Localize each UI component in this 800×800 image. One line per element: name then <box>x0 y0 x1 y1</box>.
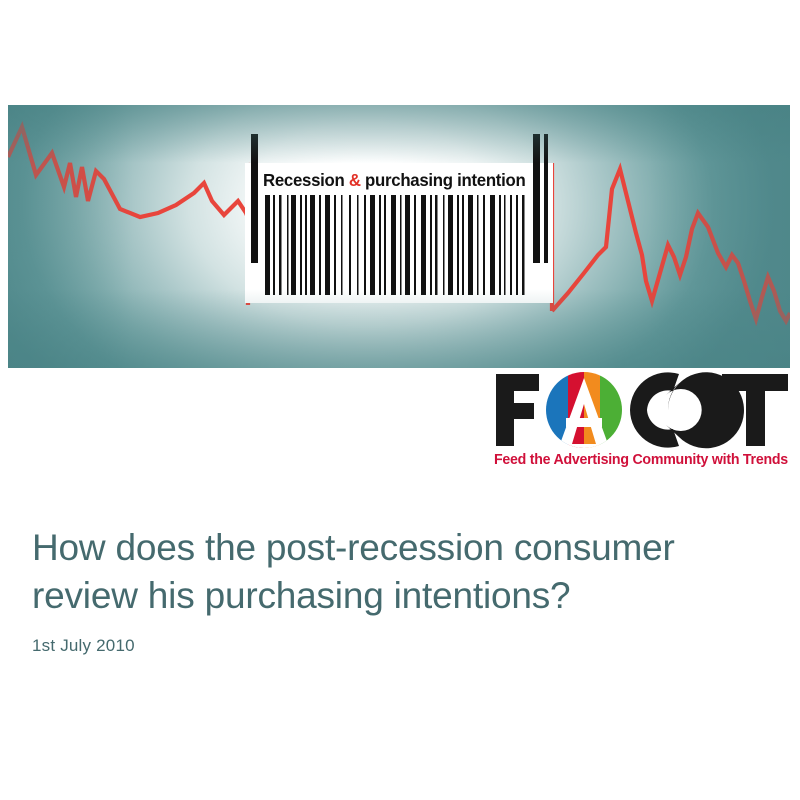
barcode-caption-ampersand: & <box>349 170 361 190</box>
presentation-date: 1st July 2010 <box>32 636 762 656</box>
fact-wordmark <box>492 370 792 450</box>
title-block: How does the post-recession consumer rev… <box>32 524 762 656</box>
barcode-caption-prefix: Recession <box>263 170 349 190</box>
barcode-caption: Recession & purchasing intention <box>263 167 541 193</box>
logo-letter-a-mark <box>546 372 624 450</box>
hero-banner: Recession & purchasing intention <box>8 105 790 368</box>
trend-line-left <box>8 127 250 223</box>
fact-tagline: Feed the Advertising Community with Tren… <box>494 452 788 468</box>
page-title: How does the post-recession consumer rev… <box>32 524 762 620</box>
barcode-caption-suffix: purchasing intention <box>361 170 526 190</box>
fact-logo: Feed the Advertising Community with Tren… <box>492 370 792 475</box>
barcode-graphic: Recession & purchasing intention <box>245 163 553 303</box>
barcode-bars <box>245 195 553 295</box>
trend-line-right <box>552 169 790 321</box>
logo-letter-f <box>496 374 539 446</box>
